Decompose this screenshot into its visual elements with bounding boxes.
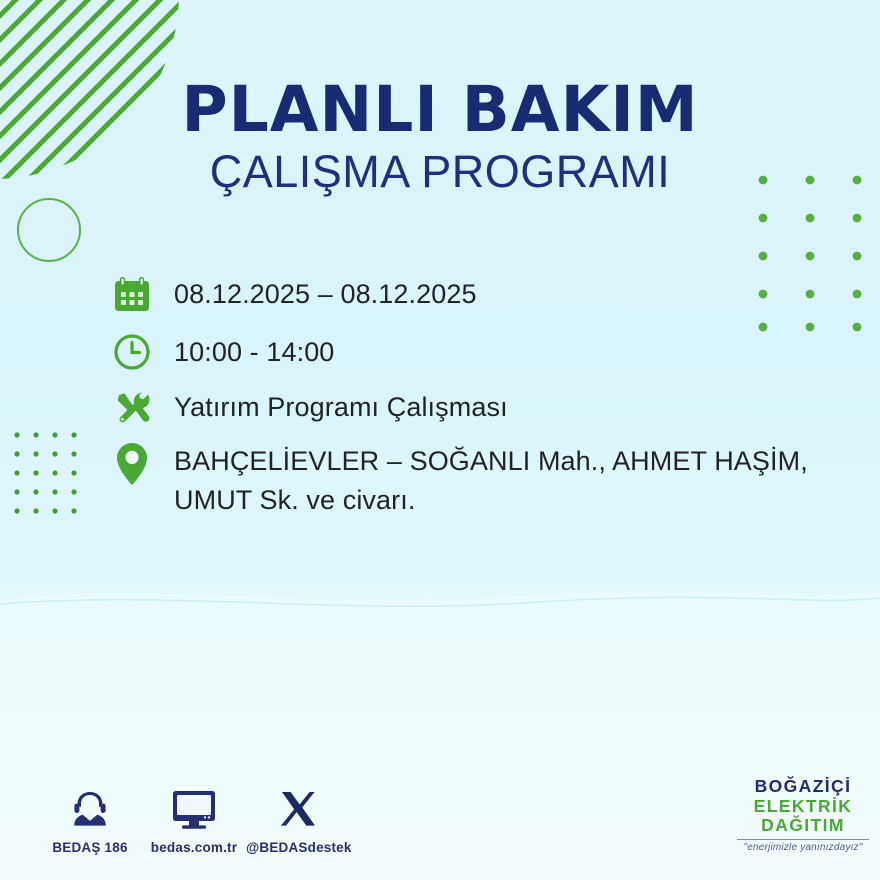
brand-logo: BOĞAZİÇİ ELEKTRİK DAĞITIM "enerjimizle y… (733, 777, 873, 853)
page-subtitle: ÇALIŞMA PROGRAMI (0, 148, 880, 195)
maintenance-time-range: 10:00 - 14:00 (174, 330, 334, 371)
poster-header: PLANLI BAKIM ÇALIŞMA PROGRAMI (0, 78, 880, 196)
footer-contacts: BEDAŞ 186 bedas.com.tr @B (38, 784, 350, 855)
planned-maintenance-poster: PLANLI BAKIM ÇALIŞMA PROGRAMI (0, 0, 880, 880)
dot-grid-decoration-left (12, 430, 90, 520)
maintenance-location: BAHÇELİEVLER – SOĞANLI Mah., AHMET HAŞİM… (174, 439, 872, 520)
headset-support-icon (38, 784, 142, 834)
contact-website-label: bedas.com.tr (142, 840, 246, 855)
brand-line-bogazici: BOĞAZİÇİ (733, 777, 873, 797)
detail-row-time: 10:00 - 14:00 (112, 330, 872, 372)
calendar-icon (112, 272, 174, 314)
contact-social-x[interactable]: @BEDASdestek (246, 784, 350, 855)
x-twitter-icon (246, 784, 350, 834)
circle-outline-decoration (16, 197, 82, 263)
maintenance-date-range: 08.12.2025 – 08.12.2025 (174, 272, 477, 313)
wave-divider-decoration (0, 560, 880, 640)
contact-call-center[interactable]: BEDAŞ 186 (38, 784, 142, 855)
contact-call-center-label: BEDAŞ 186 (38, 840, 142, 855)
detail-row-work-type: Yatırım Programı Çalışması (112, 385, 872, 427)
detail-row-date: 08.12.2025 – 08.12.2025 (112, 272, 872, 314)
maintenance-work-type: Yatırım Programı Çalışması (174, 385, 508, 426)
brand-line-dagitim: DAĞITIM (733, 816, 873, 836)
tools-icon (112, 385, 174, 427)
brand-tagline: "enerjimizle yanınızdayız" (733, 842, 873, 853)
location-pin-icon (112, 439, 174, 487)
contact-social-x-label: @BEDASdestek (246, 840, 350, 855)
maintenance-details: 08.12.2025 – 08.12.2025 10:00 - 14:00 (112, 272, 872, 536)
monitor-website-icon (142, 784, 246, 834)
clock-icon (112, 330, 174, 372)
detail-row-location: BAHÇELİEVLER – SOĞANLI Mah., AHMET HAŞİM… (112, 439, 872, 520)
brand-divider (737, 839, 869, 840)
contact-website[interactable]: bedas.com.tr (142, 784, 246, 855)
brand-line-elektrik: ELEKTRİK (733, 797, 873, 817)
page-title: PLANLI BAKIM (0, 78, 880, 142)
